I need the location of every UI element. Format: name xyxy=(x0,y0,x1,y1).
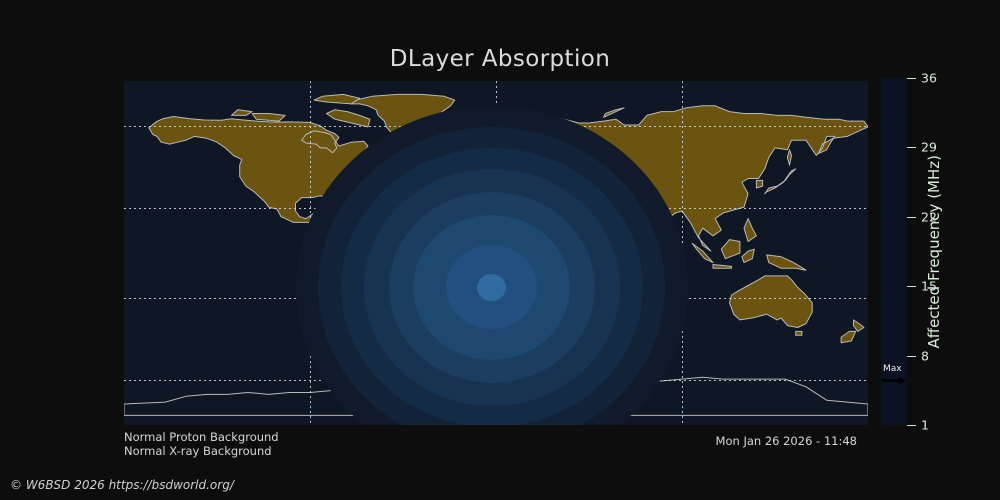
graticule-meridian xyxy=(682,81,683,425)
max-arrow-icon xyxy=(882,377,906,384)
landmass-sakhalin xyxy=(787,150,791,165)
colorbar-tick-mark xyxy=(907,286,916,287)
colorbar-axis-label-text: Affected Frequency (MHz) xyxy=(925,155,943,349)
landmass-south-america xyxy=(329,230,424,354)
landmass-new-zealand-n xyxy=(854,320,864,332)
xray-background-note: Normal X-ray Background xyxy=(124,444,272,458)
landmass-borneo xyxy=(721,240,740,259)
landmass-ireland xyxy=(475,148,483,154)
landmass-banks-island xyxy=(232,110,253,116)
timestamp-label: Mon Jan 26 2026 - 11:48 xyxy=(716,434,857,448)
landmass-australia xyxy=(730,276,813,328)
proton-background-note: Normal Proton Background xyxy=(124,430,279,444)
dlayer-absorption-page: DLayer Absorption 1815222936 Max Affecte… xyxy=(0,0,1000,500)
landmass-baffin xyxy=(327,110,370,127)
max-absorption-marker: Max xyxy=(881,365,907,387)
landmass-north-america xyxy=(149,117,382,223)
graticule-meridian xyxy=(496,81,497,425)
landmass-greenland xyxy=(351,94,454,138)
colorbar-tick-mark xyxy=(907,356,916,357)
colorbar-tick-mark xyxy=(907,217,916,218)
graticule-meridian xyxy=(310,81,311,425)
page-title: DLayer Absorption xyxy=(0,46,1000,72)
colorbar-tick-mark xyxy=(907,147,916,148)
world-absorption-map[interactable] xyxy=(124,81,868,425)
landmass-sulawesi xyxy=(742,249,754,262)
landmass-new-zealand-s xyxy=(841,331,856,342)
landmass-japan xyxy=(765,169,796,194)
landmass-victoria-island xyxy=(252,114,285,122)
colorbar-tick-mark xyxy=(907,78,916,79)
landmass-java xyxy=(713,265,732,269)
landmass-novaya-zemlya xyxy=(604,108,625,118)
landmass-tasmania xyxy=(796,331,802,335)
colorbar-tick-mark xyxy=(907,425,916,426)
landmass-korea xyxy=(756,180,762,188)
landmass-iceland xyxy=(451,127,468,131)
landmass-new-guinea xyxy=(767,255,806,270)
colorbar-axis-label: Affected Frequency (MHz) xyxy=(924,78,944,425)
max-marker-label: Max xyxy=(883,364,902,374)
copyright-credit: © W6BSD 2026 https://bsdworld.org/ xyxy=(10,478,234,492)
landmass-ellesmere xyxy=(314,94,360,104)
landmass-philippines xyxy=(744,219,756,242)
landmass-sumatra xyxy=(692,243,713,262)
